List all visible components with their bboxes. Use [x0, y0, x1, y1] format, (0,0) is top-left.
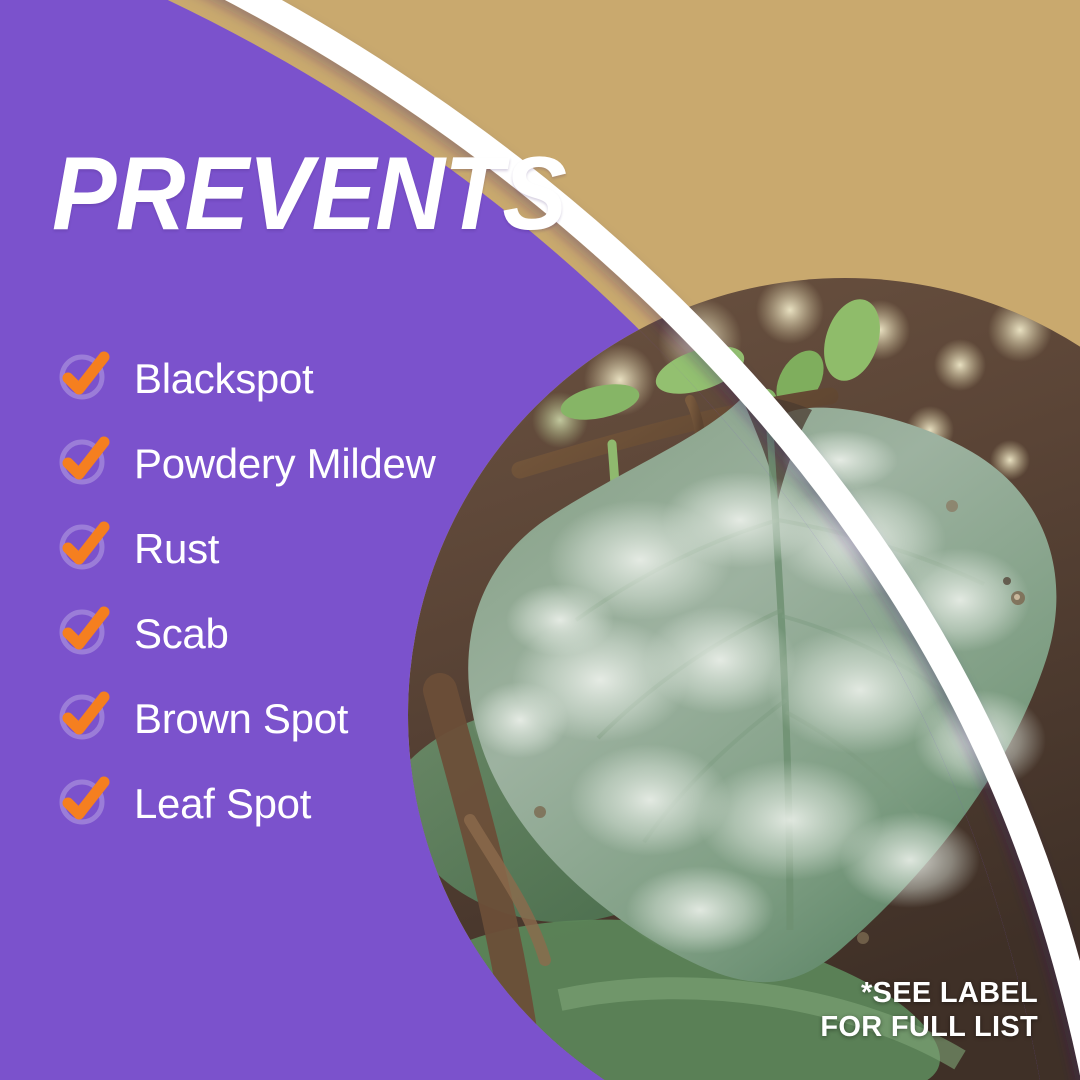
list-item-label: Blackspot: [134, 358, 313, 400]
list-item[interactable]: Scab: [56, 591, 576, 676]
list-item[interactable]: Blackspot: [56, 336, 576, 421]
list-item[interactable]: Brown Spot: [56, 676, 576, 761]
list-item[interactable]: Leaf Spot: [56, 761, 576, 846]
page-title: PREVENTS: [52, 142, 566, 246]
list-item-label: Brown Spot: [134, 698, 348, 740]
list-item[interactable]: Powdery Mildew: [56, 421, 576, 506]
list-item[interactable]: Rust: [56, 506, 576, 591]
check-circle-icon: [56, 351, 112, 407]
footnote-line-1: *SEE LABEL: [820, 976, 1038, 1010]
list-item-label: Rust: [134, 528, 219, 570]
check-circle-icon: [56, 606, 112, 662]
check-circle-icon: [56, 436, 112, 492]
footnote-line-2: FOR FULL LIST: [820, 1010, 1038, 1044]
list-item-label: Scab: [134, 613, 229, 655]
list-item-label: Leaf Spot: [134, 783, 311, 825]
infographic-canvas: PREVENTS Blackspot Powdery Mildew: [0, 0, 1080, 1080]
check-circle-icon: [56, 521, 112, 577]
prevents-list: Blackspot Powdery Mildew Rust: [56, 336, 576, 846]
list-item-label: Powdery Mildew: [134, 443, 436, 485]
check-circle-icon: [56, 691, 112, 747]
check-circle-icon: [56, 776, 112, 832]
footnote: *SEE LABEL FOR FULL LIST: [820, 976, 1038, 1044]
